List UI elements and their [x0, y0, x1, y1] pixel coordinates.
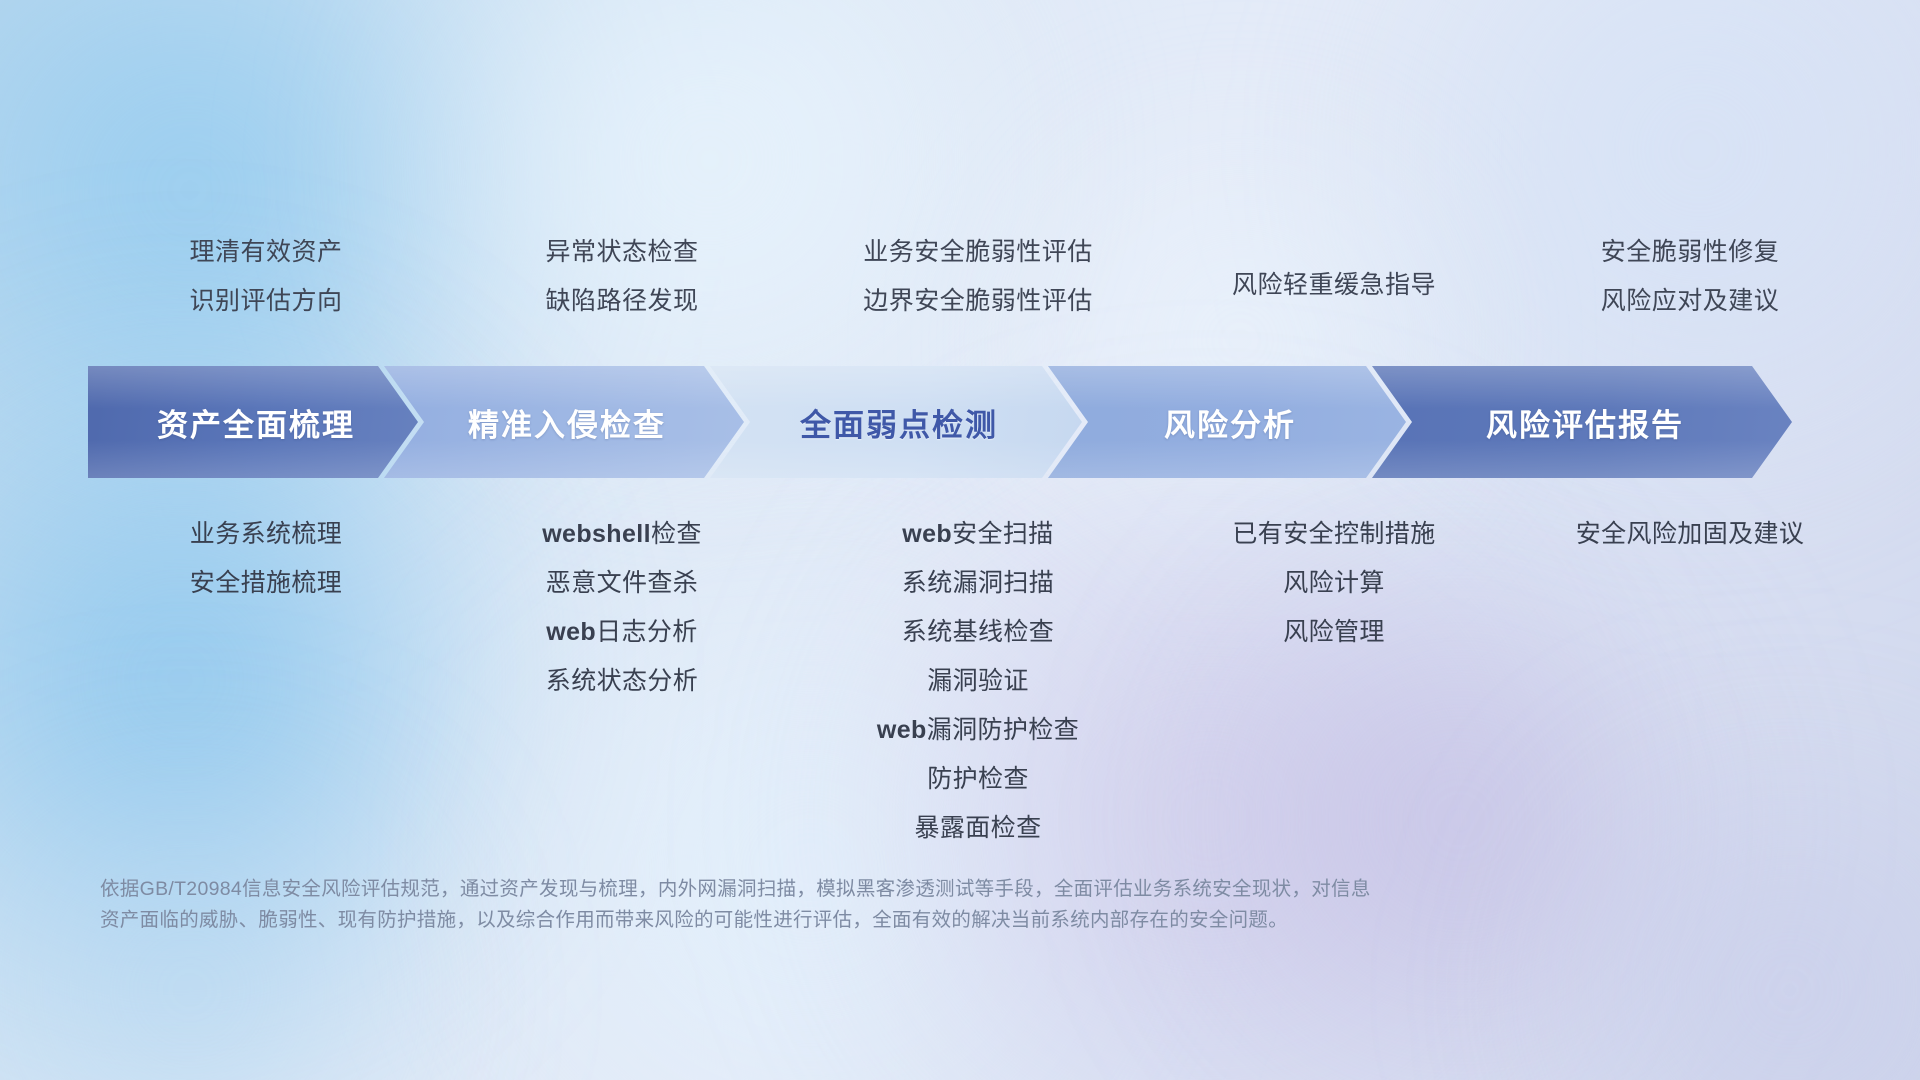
- item-latin-part: web: [546, 618, 596, 646]
- chevron-stage-5[interactable]: 风险评估报告: [1372, 366, 1792, 478]
- upper-descriptor-row: 理清有效资产识别评估方向异常状态检查缺陷路径发现业务安全脆弱性评估边界安全脆弱性…: [88, 228, 1868, 326]
- chevron-label: 全面弱点检测: [794, 400, 998, 445]
- stage-3-upper-list: 业务安全脆弱性评估边界安全脆弱性评估: [800, 228, 1156, 326]
- upper-item: 风险轻重缓急指导: [1156, 261, 1512, 310]
- slide-canvas: 理清有效资产识别评估方向异常状态检查缺陷路径发现业务安全脆弱性评估边界安全脆弱性…: [0, 0, 1920, 1080]
- stage-3-lower-list: web安全扫描系统漏洞扫描系统基线检查漏洞验证web漏洞防护检查防护检查暴露面检…: [800, 510, 1156, 853]
- stage-1-upper-list: 理清有效资产识别评估方向: [88, 228, 444, 326]
- item-cjk-part: 安全扫描: [952, 520, 1054, 548]
- item-cjk-part: 恶意文件查杀: [546, 569, 698, 597]
- stage-1-lower-list: 业务系统梳理安全措施梳理: [88, 510, 444, 608]
- stage-4-upper-list: 风险轻重缓急指导: [1156, 228, 1512, 326]
- lower-item: 防护检查: [800, 755, 1156, 804]
- item-cjk-part: 漏洞验证: [927, 667, 1029, 695]
- stage-2-upper-list: 异常状态检查缺陷路径发现: [444, 228, 800, 326]
- upper-item: 识别评估方向: [88, 277, 444, 326]
- item-latin-part: webshell: [542, 520, 651, 548]
- process-chevron-band: 资产全面梳理精准入侵检查全面弱点检测风险分析风险评估报告: [88, 366, 1878, 478]
- lower-item: 风险管理: [1156, 608, 1512, 657]
- lower-item: 已有安全控制措施: [1156, 510, 1512, 559]
- item-cjk-part: 系统漏洞扫描: [902, 569, 1054, 597]
- chevron-stage-1[interactable]: 资产全面梳理: [88, 366, 418, 478]
- chevron-stage-3[interactable]: 全面弱点检测: [710, 366, 1082, 478]
- upper-item: 业务安全脆弱性评估: [800, 228, 1156, 277]
- lower-item: web安全扫描: [800, 510, 1156, 559]
- lower-item: 系统状态分析: [444, 657, 800, 706]
- item-cjk-part: 风险计算: [1283, 569, 1385, 597]
- stage-5-upper-list: 安全脆弱性修复风险应对及建议: [1512, 228, 1868, 326]
- lower-item: 恶意文件查杀: [444, 559, 800, 608]
- upper-item: 边界安全脆弱性评估: [800, 277, 1156, 326]
- item-cjk-part: 日志分析: [596, 618, 698, 646]
- chevron-stage-4[interactable]: 风险分析: [1048, 366, 1406, 478]
- chevron-label: 风险分析: [1158, 400, 1296, 445]
- lower-item: 安全措施梳理: [88, 559, 444, 608]
- item-cjk-part: 业务系统梳理: [190, 520, 342, 548]
- item-cjk-part: 安全风险加固及建议: [1576, 520, 1805, 548]
- chevron-label: 资产全面梳理: [151, 400, 355, 445]
- footer-line-2: 资产面临的威胁、脆弱性、现有防护措施，以及综合作用而带来风险的可能性进行评估，全…: [100, 905, 1660, 936]
- footer-note: 依据GB/T20984信息安全风险评估规范，通过资产发现与梳理，内外网漏洞扫描，…: [100, 874, 1660, 936]
- footer-line-1: 依据GB/T20984信息安全风险评估规范，通过资产发现与梳理，内外网漏洞扫描，…: [100, 874, 1660, 905]
- lower-descriptor-row: 业务系统梳理安全措施梳理webshell检查恶意文件查杀web日志分析系统状态分…: [88, 510, 1868, 853]
- lower-item: 漏洞验证: [800, 657, 1156, 706]
- upper-item: 理清有效资产: [88, 228, 444, 277]
- chevron-stage-2[interactable]: 精准入侵检查: [384, 366, 744, 478]
- item-cjk-part: 安全措施梳理: [190, 569, 342, 597]
- lower-item: 系统基线检查: [800, 608, 1156, 657]
- upper-item: 缺陷路径发现: [444, 277, 800, 326]
- chevron-label: 精准入侵检查: [462, 400, 666, 445]
- item-cjk-part: 漏洞防护检查: [927, 716, 1079, 744]
- item-cjk-part: 风险管理: [1283, 618, 1385, 646]
- upper-item: 异常状态检查: [444, 228, 800, 277]
- lower-item: 业务系统梳理: [88, 510, 444, 559]
- lower-item: web日志分析: [444, 608, 800, 657]
- item-latin-part: web: [902, 520, 952, 548]
- stage-4-lower-list: 已有安全控制措施风险计算风险管理: [1156, 510, 1512, 657]
- item-cjk-part: 防护检查: [927, 765, 1029, 793]
- stage-5-lower-list: 安全风险加固及建议: [1512, 510, 1868, 559]
- lower-item: 风险计算: [1156, 559, 1512, 608]
- lower-item: 系统漏洞扫描: [800, 559, 1156, 608]
- stage-2-lower-list: webshell检查恶意文件查杀web日志分析系统状态分析: [444, 510, 800, 706]
- item-latin-part: web: [877, 716, 927, 744]
- chevron-label: 风险评估报告: [1480, 400, 1684, 445]
- item-cjk-part: 暴露面检查: [914, 814, 1041, 842]
- item-cjk-part: 检查: [651, 520, 702, 548]
- upper-item: 风险应对及建议: [1512, 277, 1868, 326]
- lower-item: webshell检查: [444, 510, 800, 559]
- lower-item: web漏洞防护检查: [800, 706, 1156, 755]
- lower-item: 安全风险加固及建议: [1512, 510, 1868, 559]
- item-cjk-part: 系统基线检查: [902, 618, 1054, 646]
- lower-item: 暴露面检查: [800, 804, 1156, 853]
- upper-item: 安全脆弱性修复: [1512, 228, 1868, 277]
- item-cjk-part: 系统状态分析: [546, 667, 698, 695]
- item-cjk-part: 已有安全控制措施: [1232, 520, 1435, 548]
